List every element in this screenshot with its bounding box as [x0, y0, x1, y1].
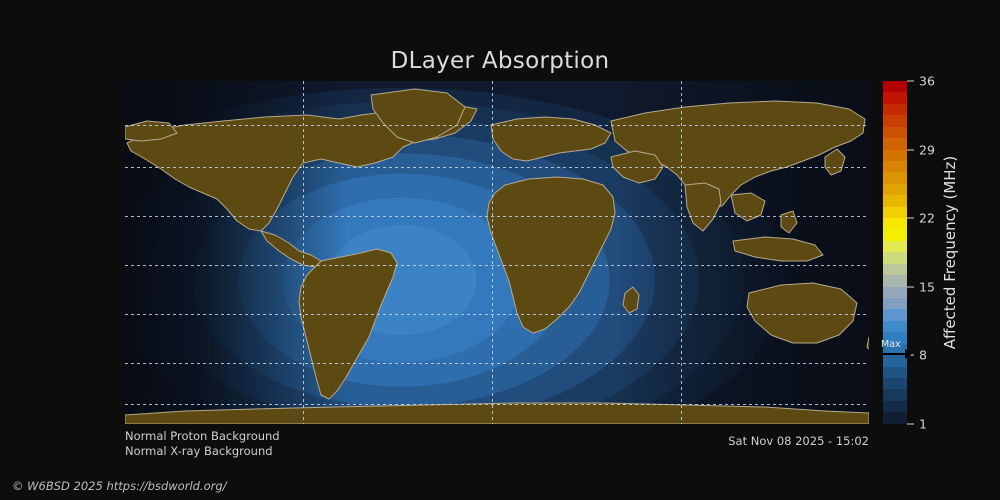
colorbar-band-4 — [883, 127, 907, 138]
timestamp: Sat Nov 08 2025 - 15:02 — [600, 434, 869, 448]
tick-dash — [907, 81, 914, 82]
colorbar-band-25 — [883, 367, 907, 378]
colorbar-tick-22: 22 — [907, 211, 935, 226]
colorbar-band-28 — [883, 401, 907, 412]
land-europe — [491, 117, 611, 161]
tick-label: 36 — [919, 74, 935, 89]
land-africa — [487, 177, 615, 333]
max-marker-arrow-shaft — [881, 353, 907, 355]
land-central-america — [261, 231, 321, 267]
colorbar-band-26 — [883, 378, 907, 389]
proton-background-note: Normal Proton Background — [125, 429, 280, 444]
background-conditions: Normal Proton Background Normal X-ray Ba… — [125, 429, 280, 459]
colorbar-band-18 — [883, 287, 907, 298]
tick-label: 29 — [919, 142, 935, 157]
colorbar-band-15 — [883, 252, 907, 263]
colorbar-tick-1: 1 — [907, 417, 927, 432]
tick-dash — [907, 218, 914, 219]
colorbar-band-20 — [883, 309, 907, 320]
land-japan — [825, 149, 845, 175]
tick-dash — [907, 286, 914, 287]
tick-label: 1 — [919, 417, 927, 432]
colorbar-band-10 — [883, 195, 907, 206]
max-marker-label: Max — [881, 339, 901, 350]
colorbar-band-29 — [883, 412, 907, 423]
colorbar-tick-29: 29 — [907, 142, 935, 157]
land-philippines — [781, 211, 797, 233]
colorbar-band-3 — [883, 115, 907, 126]
colorbar-band-21 — [883, 321, 907, 332]
colorbar-band-1 — [883, 92, 907, 103]
colorbar — [883, 81, 907, 424]
xray-background-note: Normal X-ray Background — [125, 444, 280, 459]
colorbar-band-12 — [883, 218, 907, 229]
continents-layer — [125, 81, 869, 424]
colorbar-band-5 — [883, 138, 907, 149]
land-australia — [747, 283, 857, 343]
land-se-asia — [731, 193, 765, 221]
colorbar-band-14 — [883, 241, 907, 252]
land-india — [685, 183, 721, 231]
max-marker-arrow-head — [905, 349, 912, 359]
tick-label: 15 — [919, 279, 935, 294]
land-middle-east — [611, 151, 663, 183]
colorbar-tick-36: 36 — [907, 74, 935, 89]
colorbar-band-0 — [883, 81, 907, 92]
colorbar-band-2 — [883, 104, 907, 115]
colorbar-band-17 — [883, 275, 907, 286]
land-madagascar — [623, 287, 639, 313]
colorbar-band-6 — [883, 150, 907, 161]
colorbar-max-marker: Max — [869, 339, 911, 365]
colorbar-band-11 — [883, 207, 907, 218]
land-indonesia — [733, 237, 823, 261]
colorbar-tick-15: 15 — [907, 279, 935, 294]
colorbar-band-8 — [883, 172, 907, 183]
colorbar-band-19 — [883, 298, 907, 309]
copyright-notice: © W6BSD 2025 https://bsdworld.org/ — [12, 479, 227, 493]
page-title: DLayer Absorption — [0, 48, 1000, 74]
colorbar-band-16 — [883, 264, 907, 275]
world-absorption-map — [125, 81, 869, 424]
tick-label: 8 — [919, 348, 927, 363]
tick-dash — [907, 424, 914, 425]
colorbar-band-27 — [883, 389, 907, 400]
colorbar-axis-label: Affected Frequency (MHz) — [938, 81, 962, 424]
colorbar-band-9 — [883, 184, 907, 195]
colorbar-band-7 — [883, 161, 907, 172]
land-antarctica — [125, 403, 869, 424]
tick-label: 22 — [919, 211, 935, 226]
colorbar-band-13 — [883, 229, 907, 240]
tick-dash — [907, 149, 914, 150]
land-south-america — [299, 249, 397, 399]
